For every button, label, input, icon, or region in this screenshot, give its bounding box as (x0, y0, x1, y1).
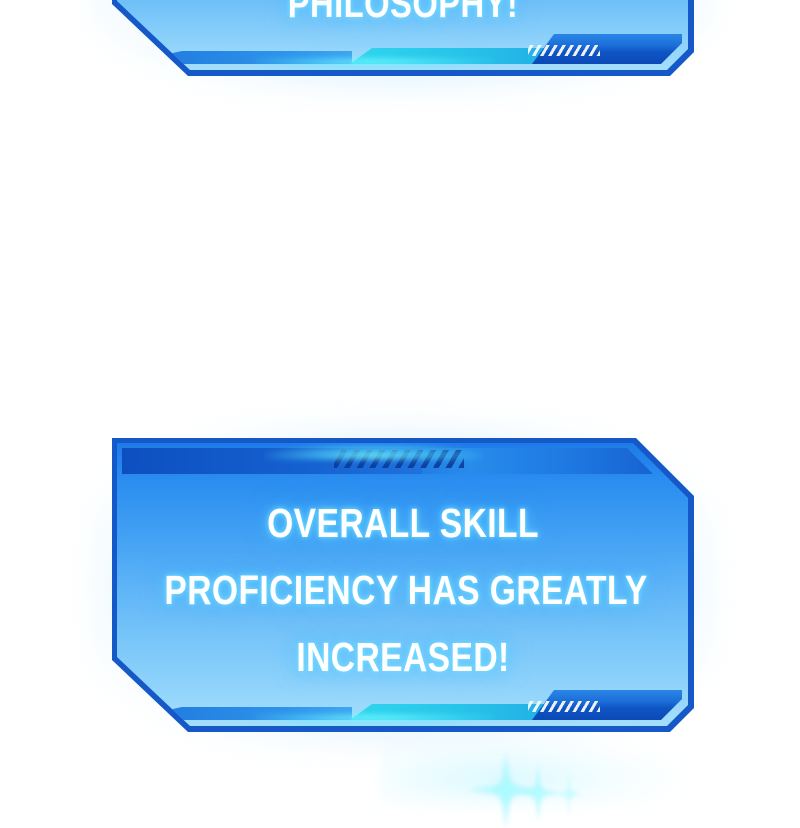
message-line-1: OVERALL SKILL (164, 503, 641, 544)
sparkle-star-icon (556, 770, 582, 818)
hatch-marks-bottom-icon (528, 45, 600, 56)
sparkle-core (493, 777, 519, 803)
philosophy-notification-panel: PHILOSOPHY! (112, 0, 694, 76)
sparkle-star-icon (514, 764, 562, 822)
sparkle-star-icon (468, 752, 544, 828)
bottom-glow-haze (380, 736, 680, 806)
bottom-edge-glow (254, 59, 494, 69)
message-line: PHILOSOPHY! (164, 0, 641, 24)
panel-bottom-message: OVERALL SKILL PROFICIENCY HAS GREATLY IN… (112, 484, 694, 696)
message-line-2: PROFICIENCY HAS GREATLY (164, 570, 641, 611)
panel-top-message: PHILOSOPHY! (164, 0, 641, 24)
hatch-marks-bottom-icon (528, 701, 600, 712)
message-line-3: INCREASED! (164, 637, 641, 678)
skill-proficiency-notification-panel: OVERALL SKILL PROFICIENCY HAS GREATLY IN… (112, 438, 694, 732)
top-edge-glow (265, 443, 482, 459)
sparkle-core (565, 786, 574, 802)
sparkle-core (530, 783, 546, 803)
bottom-edge-glow (254, 715, 494, 725)
scene-background: PHILOSOPHY! OVERALL SKILL PROFICIENCY HA… (0, 0, 800, 803)
